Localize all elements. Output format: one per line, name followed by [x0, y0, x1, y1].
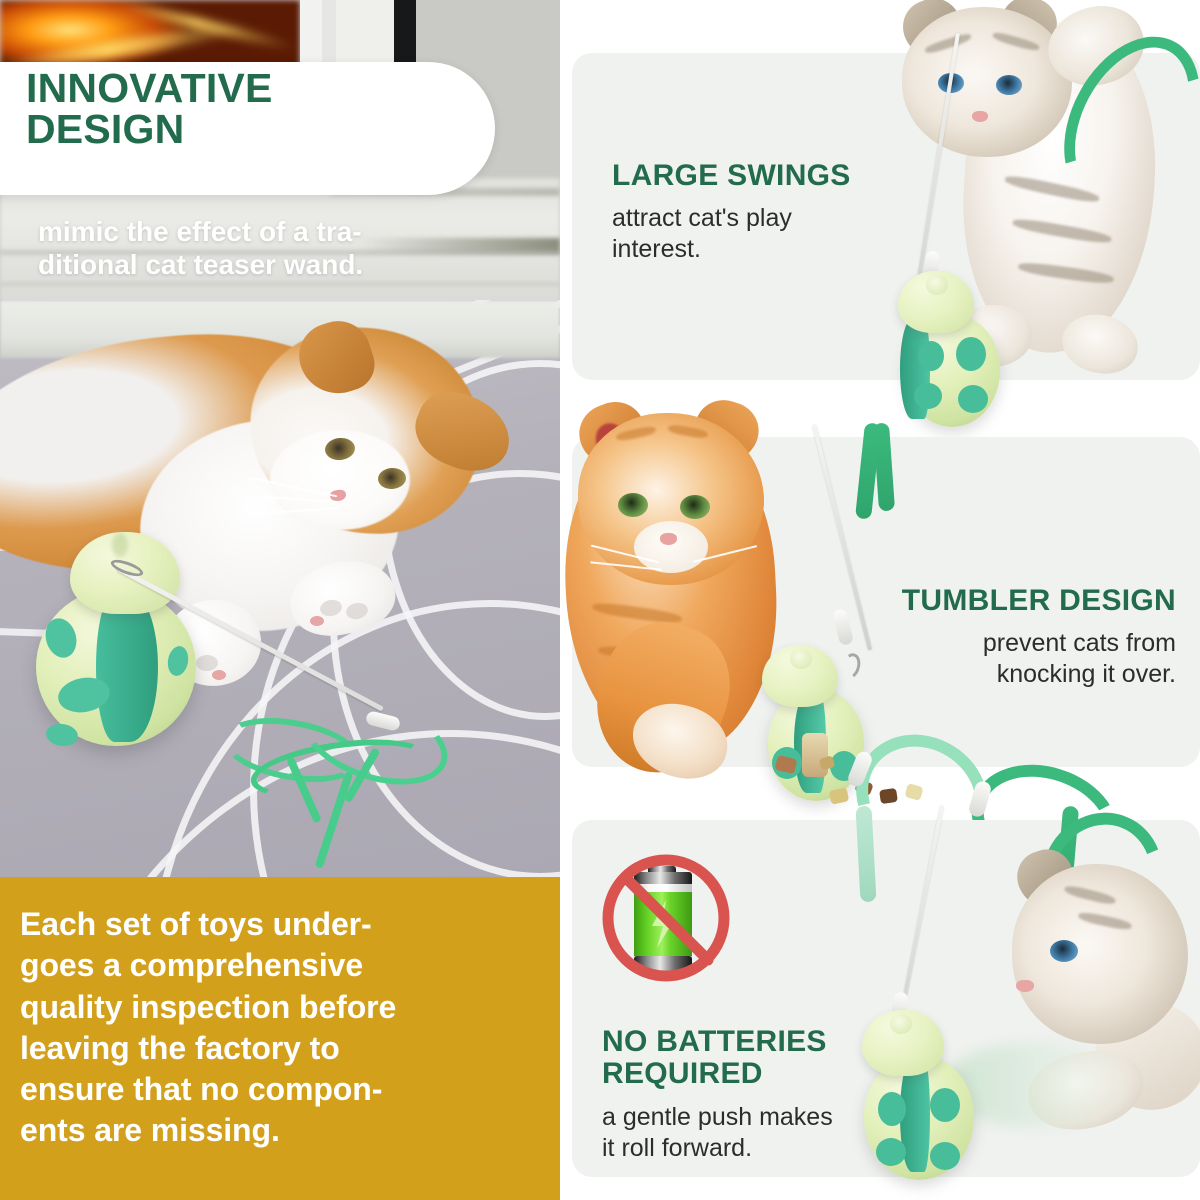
tumbler-toy-cap-notch [926, 275, 948, 295]
hero-subtitle: mimic the effect of a tra- ditional cat … [38, 215, 548, 281]
toy-spot [958, 385, 988, 413]
cat-eye [680, 495, 710, 519]
cat-paw-toe [196, 655, 218, 671]
right-column: LARGE SWINGS attract cat's play interest… [560, 0, 1200, 1200]
feature-title: TUMBLER DESIGN [902, 585, 1176, 617]
feature-title: NO BATTERIES REQUIRED [602, 1026, 827, 1090]
infographic-page: INNOVATIVE DESIGN mimic the effect of a … [0, 0, 1200, 1200]
page-title: INNOVATIVE DESIGN [26, 68, 496, 149]
left-column: INNOVATIVE DESIGN mimic the effect of a … [0, 0, 560, 1200]
feature-title: LARGE SWINGS [612, 160, 851, 192]
tumbler-toy-cap-notch [112, 533, 128, 557]
tumbler-toy-band [96, 592, 158, 742]
tumbler-toy-cap-notch [790, 649, 812, 669]
treat-piece [829, 787, 850, 804]
toy-spot [930, 1088, 960, 1122]
siamese-cat-head [902, 7, 1072, 157]
toy-spot [956, 337, 986, 371]
cat-nose [1016, 980, 1034, 992]
floor-seam [0, 282, 560, 286]
cat-muzzle [634, 521, 708, 573]
feature-subtitle: attract cat's play interest. [612, 203, 792, 264]
cat-nose [660, 533, 677, 545]
tumbler-toy [904, 315, 1000, 427]
toy-spot [914, 383, 942, 409]
feature-subtitle: prevent cats from knocking it over. [983, 628, 1176, 689]
toy-spot [918, 341, 944, 371]
tumbler-toy-cap-notch [890, 1014, 912, 1034]
no-batteries-icon [590, 844, 754, 1008]
toy-spot [876, 1138, 906, 1166]
cat-eye [618, 493, 648, 517]
cat-nose [972, 111, 988, 122]
main-product-photo [0, 300, 560, 877]
cat-paw-pad [212, 670, 226, 680]
feature-panel-large-swings: LARGE SWINGS attract cat's play interest… [572, 53, 1200, 380]
toy-spot [878, 1092, 906, 1126]
feature-panel-no-batteries: NO BATTERIES REQUIRED a gentle push make… [572, 820, 1200, 1177]
quality-statement-text: Each set of toys under- goes a comprehen… [20, 904, 542, 1152]
cat-eye [1050, 940, 1078, 962]
tumbler-toy [864, 1056, 974, 1180]
toy-spot [930, 1142, 960, 1170]
treat-dispenser-window [802, 733, 828, 777]
feature-panel-tumbler-design: TUMBLER DESIGN prevent cats from knockin… [572, 437, 1200, 767]
feature-subtitle: a gentle push makes it roll forward. [602, 1102, 833, 1163]
tumbler-toy [768, 689, 864, 801]
battery-cap-top [634, 872, 692, 886]
tabby-cat-head [1012, 864, 1188, 1044]
quality-statement-panel: Each set of toys under- goes a comprehen… [0, 877, 560, 1200]
cat-eye [996, 75, 1022, 95]
cat-paw-pad [310, 616, 324, 626]
